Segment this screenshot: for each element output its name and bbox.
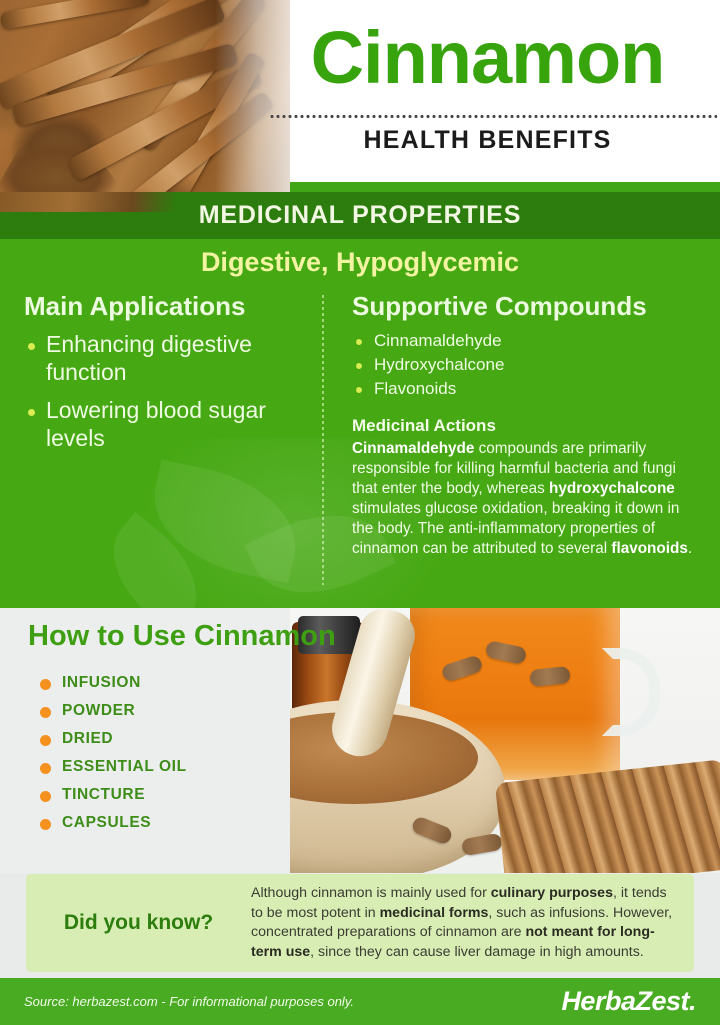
supportive-compounds-heading: Supportive Compounds xyxy=(352,291,697,322)
list-item: Enhancing digestive function xyxy=(24,330,309,386)
leaf-watermark-icon xyxy=(142,459,308,583)
how-to-use-title: How to Use Cinnamon xyxy=(28,620,336,653)
main-applications-column: Main Applications Enhancing digestive fu… xyxy=(24,291,309,462)
list-item: Lowering blood sugar levels xyxy=(24,396,309,452)
footer-bar: Source: herbazest.com - For informationa… xyxy=(0,978,720,1025)
list-item: Hydroxychalcone xyxy=(352,354,697,376)
list-item: TINCTURE xyxy=(40,786,187,804)
list-item: POWDER xyxy=(40,702,187,720)
page-title: Cinnamon xyxy=(255,16,720,100)
leaf-watermark-icon xyxy=(244,490,396,608)
medicinal-properties-banner: MEDICINAL PROPERTIES xyxy=(0,192,720,239)
cinnamon-stick-icon xyxy=(0,0,150,30)
header-accent-bar xyxy=(290,182,720,192)
banner-title: MEDICINAL PROPERTIES xyxy=(0,192,720,239)
properties-subtitle: Digestive, Hypoglycemic xyxy=(0,247,720,278)
did-you-know-box: Did you know? Although cinnamon is mainl… xyxy=(26,874,694,972)
header-text-block: Cinnamon HEALTH BENEFITS xyxy=(255,0,720,192)
list-item: INFUSION xyxy=(40,674,187,692)
tea-glass-handle-icon xyxy=(602,648,660,736)
herbazest-logo: HerbaZest. xyxy=(561,986,696,1017)
did-you-know-label: Did you know? xyxy=(26,911,251,935)
how-to-use-section: How to Use Cinnamon INFUSION POWDER DRIE… xyxy=(0,608,720,873)
supportive-compounds-list: Cinnamaldehyde Hydroxychalcone Flavonoid… xyxy=(352,330,697,400)
list-item: Flavonoids xyxy=(352,378,697,400)
main-applications-list: Enhancing digestive function Lowering bl… xyxy=(24,330,309,452)
main-applications-heading: Main Applications xyxy=(24,291,309,322)
supportive-compounds-column: Supportive Compounds Cinnamaldehyde Hydr… xyxy=(352,291,697,559)
list-item: Cinnamaldehyde xyxy=(352,330,697,352)
footer-source-text: Source: herbazest.com - For informationa… xyxy=(24,994,354,1009)
medicinal-properties-section: Digestive, Hypoglycemic Main Application… xyxy=(0,239,720,608)
how-to-use-photo xyxy=(290,608,720,873)
list-item: DRIED xyxy=(40,730,187,748)
column-dotted-divider xyxy=(322,295,324,585)
medicinal-actions-heading: Medicinal Actions xyxy=(352,416,697,436)
infographic-root: Cinnamon HEALTH BENEFITS MEDICINAL PROPE… xyxy=(0,0,720,1025)
list-item: ESSENTIAL OIL xyxy=(40,758,187,776)
medicinal-actions-text: Cinnamaldehyde compounds are primarily r… xyxy=(352,439,697,559)
leaf-watermark-icon xyxy=(90,512,219,608)
header-section: Cinnamon HEALTH BENEFITS xyxy=(0,0,720,192)
how-to-use-list: INFUSION POWDER DRIED ESSENTIAL OIL TINC… xyxy=(40,674,187,842)
list-item: CAPSULES xyxy=(40,814,187,832)
page-subtitle: HEALTH BENEFITS xyxy=(255,126,720,155)
did-you-know-text: Although cinnamon is mainly used for cul… xyxy=(251,884,694,962)
title-dotted-divider xyxy=(269,115,717,118)
